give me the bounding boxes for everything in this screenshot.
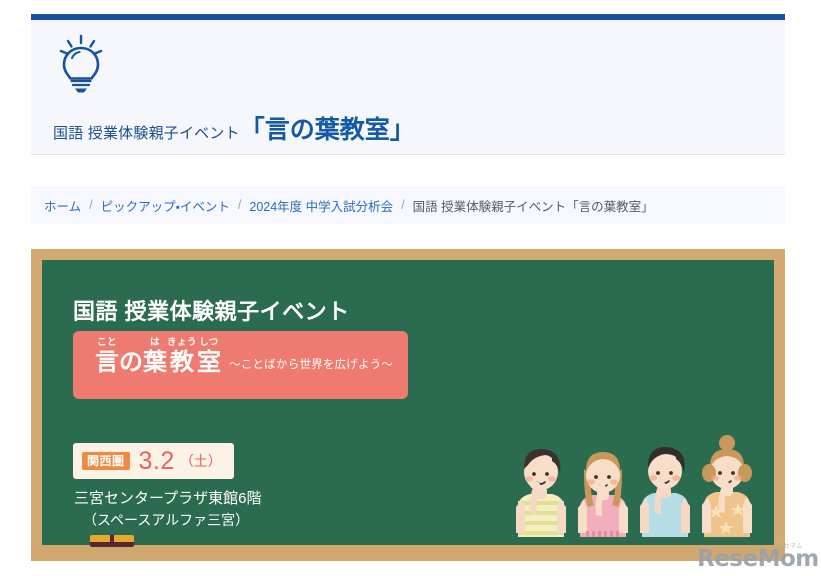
breadcrumb: ホーム / ピックアップ・イベント / 2024年度 中学入試分析会 / 国語 … bbox=[31, 186, 785, 224]
breadcrumb-item-current: 国語 授業体験親子イベント「言の葉教室」 bbox=[413, 196, 654, 215]
resemom-watermark: リセマム ReseMom. bbox=[697, 543, 809, 571]
event-day-of-week: （土） bbox=[180, 454, 222, 468]
event-name-subtitle: ～ことばから世界を広げよう～ bbox=[229, 356, 393, 375]
ruby-base: 葉 bbox=[143, 350, 167, 375]
ruby-base: 言 bbox=[95, 350, 119, 375]
venue-line-2: （スペースアルファ三宮） bbox=[74, 510, 261, 532]
page-title-sub: 国語 授業体験親子イベント bbox=[53, 125, 240, 142]
event-date: 3.2 bbox=[139, 449, 175, 474]
breadcrumb-item-pickup-event[interactable]: ピックアップ・イベント bbox=[101, 196, 230, 215]
chalk-eraser-icon bbox=[90, 535, 134, 547]
venue-line-1: 三宮センタープラザ東館6階 bbox=[74, 487, 261, 510]
region-badge: 関西圏 bbox=[82, 452, 130, 470]
breadcrumb-item-2024-analysis[interactable]: 2024年度 中学入試分析会 bbox=[249, 196, 393, 215]
ruby-base: の bbox=[119, 350, 143, 375]
ruby-base: 教 bbox=[170, 350, 194, 375]
board-heading: 国語 授業体験親子イベント bbox=[73, 294, 350, 326]
event-name-ruby-text: こと 言 の は 葉 きょう 教 bbox=[95, 338, 221, 375]
page-title-main: 「言の葉教室」 bbox=[240, 116, 415, 144]
event-date-chip: 関西圏 3.2 （土） bbox=[73, 443, 234, 479]
chalkboard-hero: 国語 授業体験親子イベント こと 言 の は 葉 bbox=[31, 249, 785, 561]
chalkboard-ledge bbox=[31, 545, 785, 561]
watermark-text: ReseMom. bbox=[697, 546, 821, 572]
breadcrumb-separator: / bbox=[89, 198, 92, 212]
header-accent-rule bbox=[31, 14, 785, 20]
breadcrumb-separator: / bbox=[401, 198, 404, 212]
lightbulb-icon bbox=[53, 32, 109, 94]
breadcrumb-item-home[interactable]: ホーム bbox=[44, 196, 81, 215]
page-header-panel: 国語 授業体験親子イベント「言の葉教室」 bbox=[31, 14, 785, 155]
chalkboard-surface: 国語 授業体験親子イベント こと 言 の は 葉 bbox=[42, 260, 774, 545]
four-children-thinking-illustration bbox=[506, 435, 766, 545]
breadcrumb-separator: / bbox=[238, 198, 241, 212]
event-name-banner: こと 言 の は 葉 きょう 教 bbox=[73, 331, 408, 399]
event-venue: 三宮センタープラザ東館6階 （スペースアルファ三宮） bbox=[74, 487, 261, 532]
page-title: 国語 授業体験親子イベント「言の葉教室」 bbox=[53, 118, 415, 143]
ruby-base: 室 bbox=[197, 350, 221, 375]
